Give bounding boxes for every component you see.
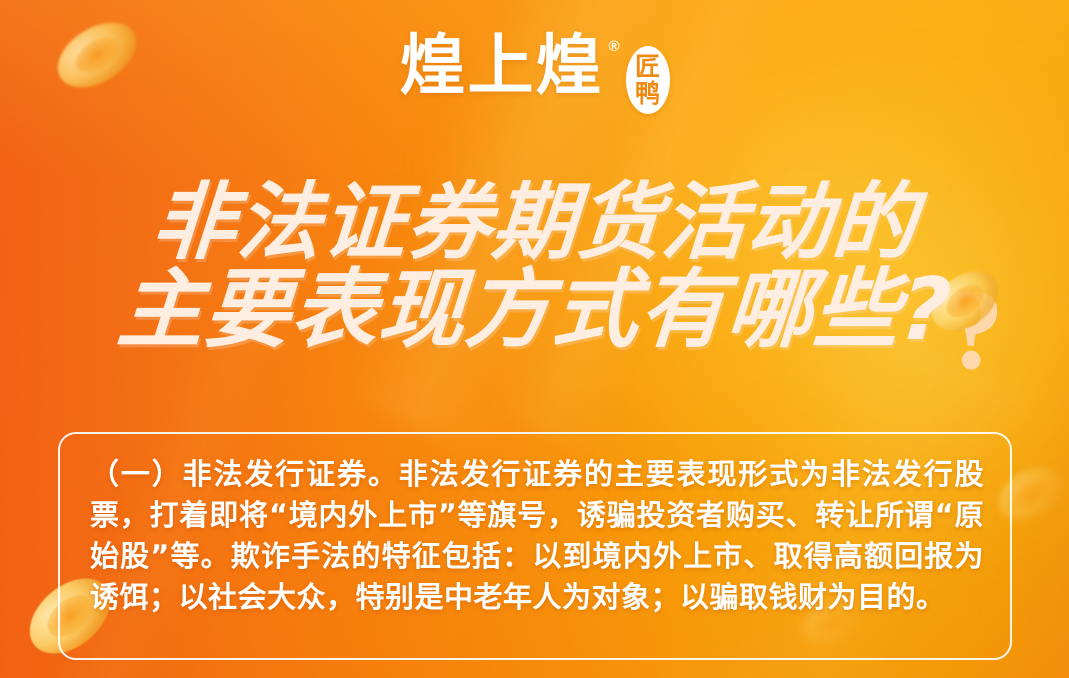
- brand-wordmark: 煌上煌: [399, 34, 603, 97]
- body-paragraph: （一）非法发行证券。非法发行证券的主要表现形式为非法发行股票，打着即将“境内外上…: [90, 454, 984, 618]
- body-card: （一）非法发行证券。非法发行证券的主要表现形式为非法发行股票，打着即将“境内外上…: [58, 432, 1012, 660]
- brand-sub-badge-line2: 鸭: [635, 81, 660, 107]
- brand-logo: 煌上煌 ® 匠 鸭: [0, 34, 1069, 114]
- poster-root: ? 煌上煌 ® 匠 鸭 非法证券期货活动的 主要表现方式有哪些? （一）非法发行…: [0, 0, 1069, 678]
- headline-line-2: 主要表现方式有哪些?: [0, 266, 1069, 354]
- brand-sub-badge-line1: 匠: [635, 54, 660, 80]
- headline: 非法证券期货活动的 主要表现方式有哪些?: [0, 178, 1069, 354]
- brand-sub-badge: 匠 鸭: [626, 46, 670, 114]
- headline-line-1: 非法证券期货活动的: [0, 178, 1069, 266]
- registered-trademark-icon: ®: [608, 38, 619, 55]
